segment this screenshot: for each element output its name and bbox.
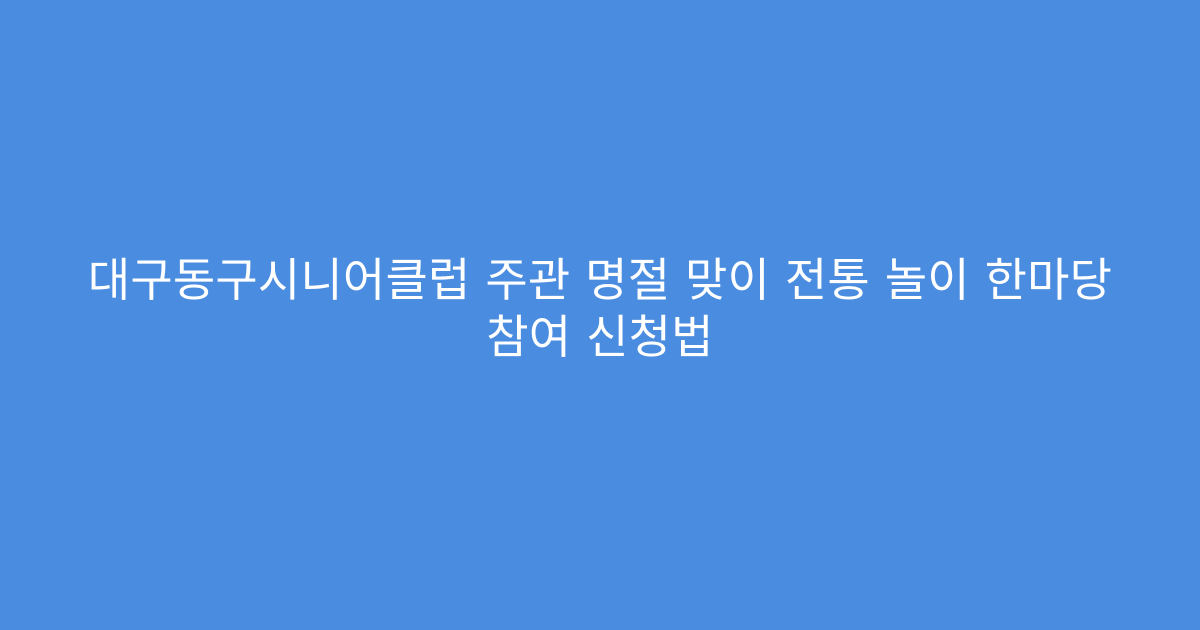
headline-block: 대구동구시니어클럽 주관 명절 맞이 전통 놀이 한마당 참여 신청법	[70, 252, 1130, 378]
page-title: 대구동구시니어클럽 주관 명절 맞이 전통 놀이 한마당 참여 신청법	[70, 252, 1130, 366]
og-banner-card: 대구동구시니어클럽 주관 명절 맞이 전통 놀이 한마당 참여 신청법	[0, 0, 1200, 630]
